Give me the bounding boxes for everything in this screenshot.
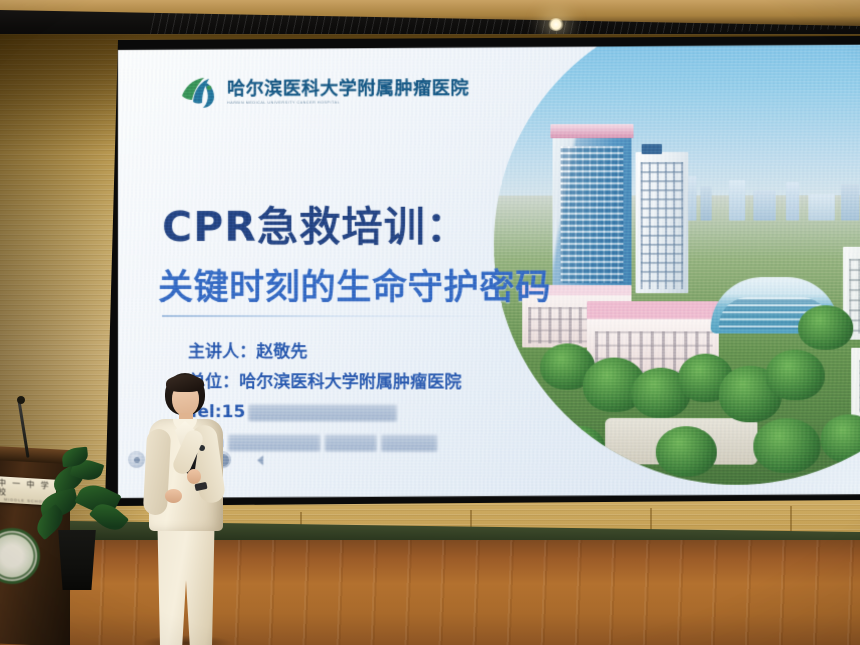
speaker-line: 主讲人： 赵敬先 bbox=[188, 337, 591, 368]
presenter-shadow bbox=[141, 635, 233, 645]
email-redaction-bar bbox=[381, 434, 437, 451]
email-redaction-bar bbox=[229, 434, 321, 451]
slide-title-line2: 关键时刻的生命守护密码 bbox=[158, 259, 551, 310]
title-underline bbox=[162, 315, 504, 317]
lecture-hall-photo: 哈尔滨医科大学附属肿瘤医院 HARBIN MEDICAL UNIVERSITY … bbox=[0, 0, 860, 645]
presenter-hand bbox=[187, 469, 201, 484]
tel-redaction-bar bbox=[248, 404, 397, 421]
unit-line: 单位： 哈尔滨医科大学附属肿瘤医院 bbox=[188, 367, 591, 398]
floor-reflections bbox=[0, 540, 860, 645]
logo-org-subname: HARBIN MEDICAL UNIVERSITY CANCER HOSPITA… bbox=[227, 100, 469, 106]
unit-name: 哈尔滨医科大学附属肿瘤医院 bbox=[239, 367, 461, 397]
presenter-second-hand bbox=[165, 489, 182, 503]
presenter-trousers bbox=[155, 525, 217, 645]
logo-org-name: 哈尔滨医科大学附属肿瘤医院 bbox=[227, 79, 469, 100]
microphone-head-icon bbox=[17, 396, 25, 404]
tel-line: Tel:15 bbox=[188, 397, 591, 428]
previous-slide-button[interactable] bbox=[257, 455, 263, 465]
hospital-logo: 哈尔滨医科大学附属肿瘤医院 HARBIN MEDICAL UNIVERSITY … bbox=[180, 75, 469, 110]
speaker-name: 赵敬先 bbox=[256, 337, 307, 367]
ceiling-spotlight-icon bbox=[548, 18, 564, 31]
logo-text-block: 哈尔滨医科大学附属肿瘤医院 HARBIN MEDICAL UNIVERSITY … bbox=[227, 79, 469, 106]
presenter-hair-front bbox=[166, 375, 204, 392]
presenter-left-arm bbox=[143, 428, 171, 515]
speaker-label: 主讲人： bbox=[188, 337, 256, 367]
plant-pot bbox=[57, 530, 97, 590]
email-redaction-bar bbox=[325, 434, 377, 451]
presenter bbox=[133, 373, 239, 645]
slide-title-line1: CPR急救培训： bbox=[162, 193, 468, 253]
presenter-info-block: 主讲人： 赵敬先 单位： 哈尔滨医科大学附属肿瘤医院 Tel:15 E-m bbox=[188, 337, 591, 458]
leaf-bird-logo-icon bbox=[180, 76, 218, 110]
